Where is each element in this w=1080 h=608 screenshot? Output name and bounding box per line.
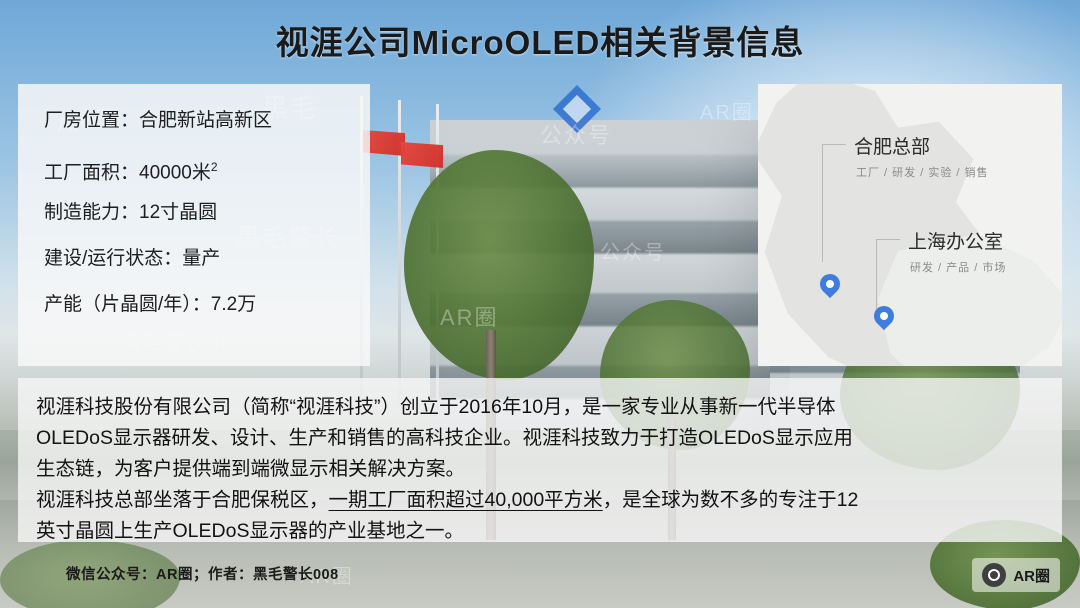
info-value: 40000米 bbox=[139, 162, 211, 183]
flag-2 bbox=[401, 142, 443, 168]
map-connector-office bbox=[876, 239, 877, 319]
info-row: 制造能力：12寸晶圆 bbox=[18, 190, 370, 236]
info-label: 工厂面积： bbox=[44, 162, 139, 183]
description-pre: 视涯科技总部坐落于合肥保税区， bbox=[36, 489, 329, 511]
channel-badge: AR圈 bbox=[972, 558, 1060, 592]
info-row: 厂房位置：合肥新站高新区 bbox=[18, 98, 370, 144]
info-label: 产能（片晶圆/年）： bbox=[44, 294, 211, 315]
slide: AR圈 黑毛 公众号 AR圈 公众号 AR圈 黑毛警长 公众号 AR圈 黑毛警长… bbox=[0, 0, 1080, 608]
footer-credit: 微信公众号：AR圈；作者：黑毛警长008 bbox=[66, 563, 339, 584]
info-value: 7.2万 bbox=[211, 294, 256, 315]
info-label: 制造能力： bbox=[44, 202, 139, 223]
info-card: 厂房位置：合肥新站高新区 工厂面积：40000米2 制造能力：12寸晶圆 建设/… bbox=[18, 84, 370, 366]
map-card: 合肥总部 工厂 / 研发 / 实验 / 销售 上海办公室 研发 / 产品 / 市… bbox=[758, 84, 1062, 366]
map-sublabel-office: 研发 / 产品 / 市场 bbox=[910, 259, 1006, 275]
description-line: 生态链，为客户提供端到端微显示相关解决方案。 bbox=[36, 454, 1046, 485]
page-title: 视涯公司MicroOLED相关背景信息 bbox=[0, 16, 1080, 64]
tree-foliage-1 bbox=[404, 150, 594, 380]
watermark: 公众号 bbox=[540, 118, 612, 150]
map-label-office: 上海办公室 bbox=[908, 227, 1003, 254]
map-label-hq: 合肥总部 bbox=[854, 132, 930, 159]
map-connector-hq-arm bbox=[822, 144, 846, 145]
info-value-superscript: 2 bbox=[211, 160, 218, 174]
watermark: AR圈 bbox=[440, 300, 499, 332]
map-sublabel-hq: 工厂 / 研发 / 实验 / 销售 bbox=[856, 164, 989, 180]
channel-logo-icon bbox=[982, 563, 1006, 587]
description-panel: 视涯科技股份有限公司（简称“视涯科技”）创立于2016年10月，是一家专业从事新… bbox=[18, 378, 1062, 542]
info-row: 产能（片晶圆/年）：7.2万 bbox=[18, 282, 370, 328]
description-line: 视涯科技股份有限公司（简称“视涯科技”）创立于2016年10月，是一家专业从事新… bbox=[36, 392, 1046, 423]
info-label: 厂房位置： bbox=[44, 110, 139, 131]
info-row: 建设/运行状态：量产 bbox=[18, 236, 370, 282]
info-row: 工厂面积：40000米2 bbox=[18, 144, 370, 190]
channel-badge-label: AR圈 bbox=[1013, 565, 1050, 586]
map-connector-hq bbox=[822, 144, 823, 262]
info-value: 量产 bbox=[182, 248, 220, 269]
info-value: 合肥新站高新区 bbox=[139, 110, 272, 131]
description-underlined: 一期工厂面积超过40,000平方米 bbox=[329, 489, 603, 511]
description-line: 英寸晶圆上生产OLEDoS显示器的产业基地之一。 bbox=[36, 516, 1046, 547]
description-post: ，是全球为数不多的专注于12 bbox=[603, 489, 859, 511]
description-line-highlight: 视涯科技总部坐落于合肥保税区，一期工厂面积超过40,000平方米，是全球为数不多… bbox=[36, 485, 1046, 516]
watermark: 公众号 bbox=[600, 236, 666, 265]
info-value: 12寸晶圆 bbox=[139, 202, 217, 223]
info-label: 建设/运行状态： bbox=[44, 248, 182, 269]
description-line: OLEDoS显示器研发、设计、生产和销售的高科技企业。视涯科技致力于打造OLED… bbox=[36, 423, 1046, 454]
map-connector-office-arm bbox=[876, 239, 900, 240]
watermark: AR圈 bbox=[700, 96, 754, 125]
